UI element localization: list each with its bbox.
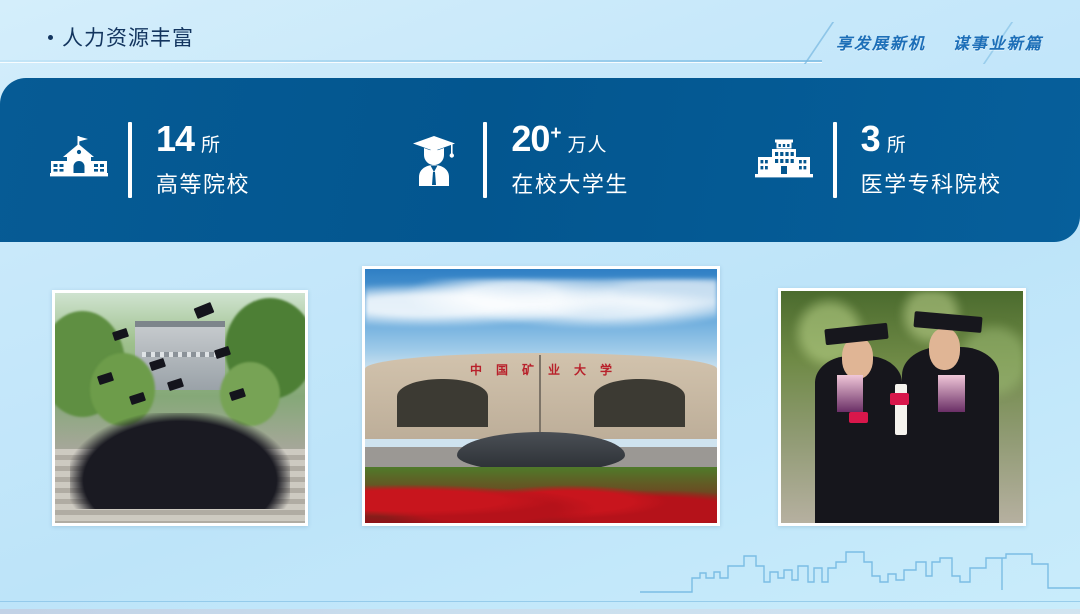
university-gate-photo: 中国矿业大学 [362, 266, 720, 526]
graduate-person-icon [403, 131, 465, 189]
stat-item-students: 20 + 万人 在校大学生 [375, 121, 730, 199]
bullet-dot-icon [48, 35, 53, 40]
stat-item-medical-colleges: 3 所 医学专科院校 [731, 121, 1080, 199]
footer-divider [0, 601, 1080, 602]
slogan-part-1: 享发展新机 [836, 36, 926, 53]
stat-label: 高等院校 [156, 167, 250, 199]
school-building-icon [48, 131, 110, 189]
stat-separator [128, 122, 132, 198]
stat-superscript: + [550, 123, 561, 145]
header-slogan: 享发展新机 谋事业新篇 [836, 30, 1043, 54]
stat-number: 20 [511, 121, 549, 157]
page-title: 人力资源丰富 [48, 22, 194, 52]
stat-separator [483, 122, 487, 198]
stat-unit: 所 [887, 130, 907, 157]
page-header: 人力资源丰富 享发展新机 谋事业新篇 [0, 0, 1080, 63]
footer-edge [0, 609, 1080, 614]
institution-building-icon [753, 131, 815, 189]
city-skyline-outline [640, 542, 1080, 600]
graduation-cap-toss-photo [52, 290, 308, 526]
page-title-text: 人力资源丰富 [62, 22, 194, 52]
two-graduates-photo [778, 288, 1026, 526]
stat-unit: 所 [201, 130, 221, 157]
stat-number: 3 [861, 121, 880, 157]
header-divider-highlight [0, 62, 822, 63]
statistics-panel: 14 所 高等院校 20 + 万人 [0, 78, 1080, 242]
stat-label: 医学专科院校 [861, 167, 1002, 199]
slogan-part-2: 谋事业新篇 [953, 36, 1043, 53]
gate-inscription: 中国矿业大学 [365, 361, 717, 378]
stat-unit: 万人 [567, 130, 607, 157]
stat-label: 在校大学生 [511, 167, 629, 199]
stat-item-colleges: 14 所 高等院校 [0, 121, 375, 199]
stat-separator [833, 122, 837, 198]
stat-number: 14 [156, 121, 194, 157]
